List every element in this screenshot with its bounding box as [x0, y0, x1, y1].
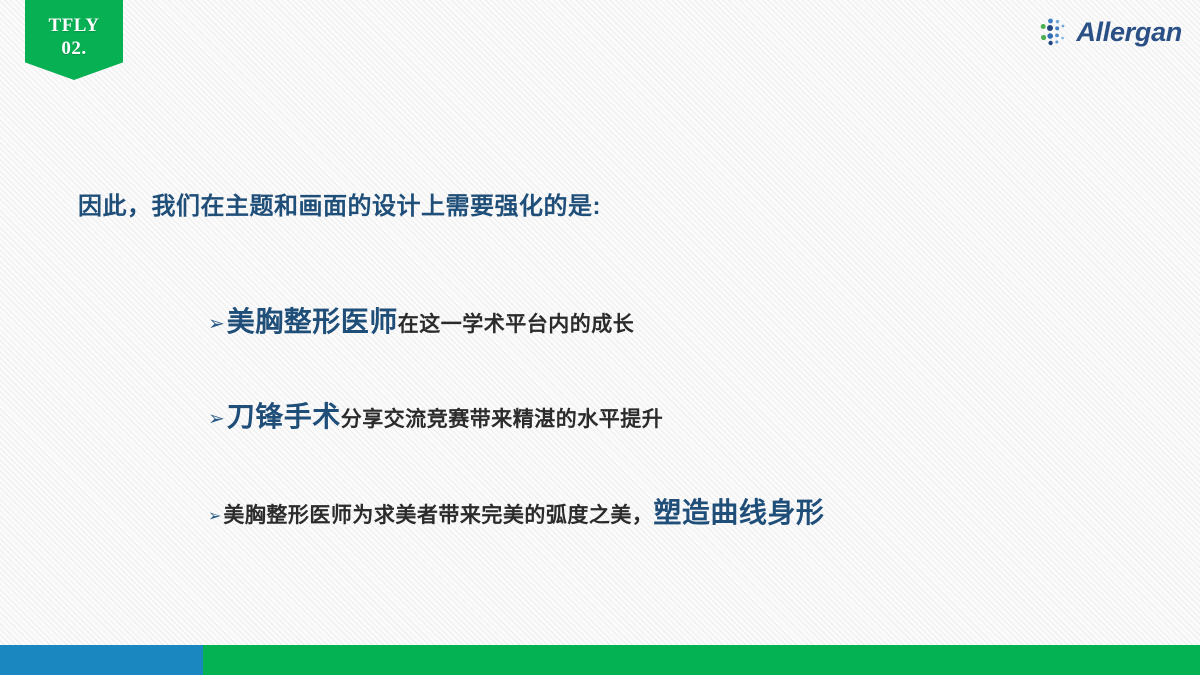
- footer-accent-bars: [0, 645, 1200, 675]
- footer-bar-green: [203, 645, 1200, 675]
- arrow-bullet-icon: ➢: [208, 409, 225, 429]
- slide-content: 因此，我们在主题和画面的设计上需要强化的是: ➢ 美胸整形医师 在这一学术平台内…: [0, 0, 1200, 675]
- footer-bar-blue: [0, 645, 203, 675]
- bullet-2-emphasis-text: 刀锋手术: [227, 395, 341, 435]
- bullet-item-2: ➢ 刀锋手术 分享交流竞赛带来精湛的水平提升: [208, 395, 663, 435]
- bullet-1-emphasis-text: 美胸整形医师: [227, 300, 398, 340]
- arrow-bullet-icon: ➢: [208, 509, 221, 525]
- slide-canvas: TFLY 02. Allergan 因此，我们在主题和画面的设计上需要强化的是:…: [0, 0, 1200, 675]
- bullet-2-plain-text: 分享交流竞赛带来精湛的水平提升: [341, 403, 664, 433]
- bullet-3-emphasis-text: 塑造曲线身形: [653, 491, 824, 531]
- bullet-item-1: ➢ 美胸整形医师 在这一学术平台内的成长: [208, 300, 634, 340]
- arrow-bullet-icon: ➢: [208, 314, 225, 334]
- bullet-1-plain-text: 在这一学术平台内的成长: [398, 308, 635, 338]
- bullet-3-plain-text: 美胸整形医师为求美者带来完美的弧度之美，: [223, 499, 653, 529]
- page-title: 因此，我们在主题和画面的设计上需要强化的是:: [78, 186, 601, 221]
- bullet-item-3: ➢ 美胸整形医师为求美者带来完美的弧度之美， 塑造曲线身形: [208, 491, 824, 531]
